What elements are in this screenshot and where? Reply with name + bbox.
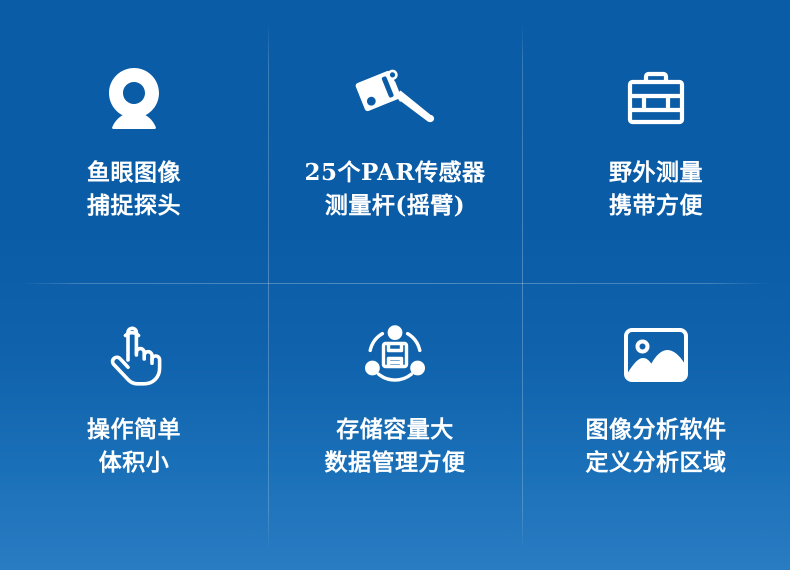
feature-cell-field-portable: 野外测量 携带方便	[522, 0, 790, 285]
sensor-rod-icon	[353, 56, 437, 140]
feature-label-line2: 数据管理方便	[325, 446, 466, 479]
toolbox-icon	[624, 56, 688, 140]
feature-cell-image-analysis: 图像分析软件 定义分析区域	[522, 285, 790, 570]
feature-label: 操作简单 体积小	[87, 413, 181, 479]
tap-hand-icon	[104, 313, 164, 397]
webcam-icon	[101, 56, 167, 140]
feature-label-line1: 鱼眼图像	[87, 159, 181, 186]
feature-board: 鱼眼图像 捕捉探头	[0, 0, 790, 570]
feature-cell-storage-capacity: 存储容量大 数据管理方便	[268, 285, 522, 570]
feature-label-line1: 25个PAR传感器	[304, 159, 485, 186]
feature-label-line2: 定义分析区域	[586, 446, 727, 479]
feature-label: 鱼眼图像 捕捉探头	[87, 156, 181, 222]
feature-label-line2: 体积小	[87, 446, 181, 479]
feature-label-line2: 携带方便	[609, 189, 703, 222]
feature-label-line2: 测量杆(摇臂)	[304, 189, 485, 222]
feature-cell-par-sensor-rod: 25个PAR传感器 测量杆(摇臂)	[268, 0, 522, 285]
feature-label: 25个PAR传感器 测量杆(摇臂)	[304, 156, 485, 222]
storage-share-icon	[363, 313, 427, 397]
feature-label-line2: 捕捉探头	[87, 189, 181, 222]
feature-label-line1: 操作简单	[87, 416, 181, 443]
feature-label: 存储容量大 数据管理方便	[325, 413, 466, 479]
feature-label: 图像分析软件 定义分析区域	[586, 413, 727, 479]
feature-label-line1: 野外测量	[609, 159, 703, 186]
feature-label-line1: 图像分析软件	[586, 416, 727, 443]
feature-cell-fisheye-probe: 鱼眼图像 捕捉探头	[0, 0, 268, 285]
feature-cell-easy-operation: 操作简单 体积小	[0, 285, 268, 570]
image-analysis-icon	[622, 313, 690, 397]
feature-label: 野外测量 携带方便	[609, 156, 703, 222]
feature-label-line1: 存储容量大	[336, 416, 454, 443]
feature-grid: 鱼眼图像 捕捉探头	[0, 0, 790, 570]
